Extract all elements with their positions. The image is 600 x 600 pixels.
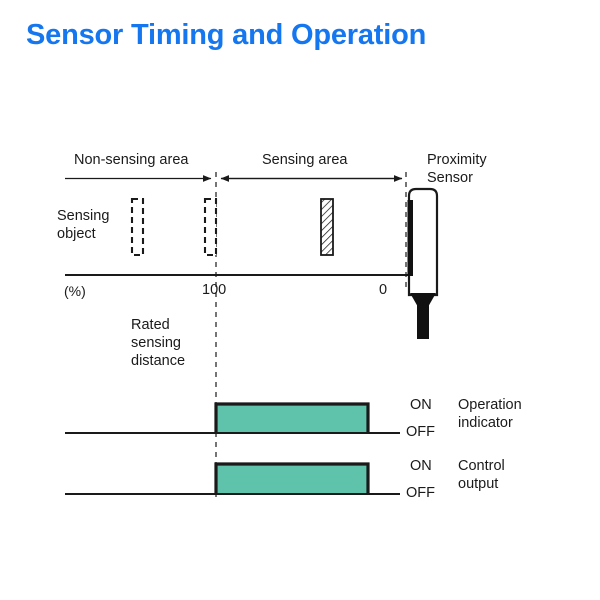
label-proximity-sensor: Proximity Sensor bbox=[427, 152, 487, 188]
label-on-control-output: ON bbox=[410, 458, 432, 476]
label-off-control-output: OFF bbox=[406, 485, 435, 503]
sensor-sensing-face bbox=[408, 200, 414, 276]
waveform-on-block bbox=[216, 464, 368, 494]
axis-tick-0: 0 bbox=[379, 282, 387, 300]
sensor-cable-neck bbox=[410, 293, 436, 307]
sensor-timing-diagram bbox=[0, 0, 600, 600]
label-sensing-object: Sensing object bbox=[57, 208, 109, 244]
label-percent-axis: (%) bbox=[64, 283, 86, 300]
label-on-operation-indicator: ON bbox=[410, 397, 432, 415]
waveform-control-output bbox=[65, 464, 400, 494]
waveform-on-block bbox=[216, 404, 368, 433]
label-non-sensing-area: Non-sensing area bbox=[74, 152, 188, 170]
label-operation-indicator: Operation indicator bbox=[458, 397, 522, 433]
proximity-sensor-body bbox=[408, 189, 438, 339]
diagram-page: Sensor Timing and Operation bbox=[0, 0, 600, 600]
sensing-object-boundary bbox=[205, 199, 216, 255]
sensing-object-far bbox=[132, 199, 143, 255]
label-sensing-area: Sensing area bbox=[262, 152, 347, 170]
label-control-output: Control output bbox=[458, 458, 505, 494]
axis-tick-100: 100 bbox=[202, 282, 226, 300]
label-rated-sensing-distance: Rated sensing distance bbox=[131, 317, 185, 371]
label-off-operation-indicator: OFF bbox=[406, 424, 435, 442]
sensing-object-detected bbox=[321, 199, 333, 255]
sensor-cable bbox=[417, 305, 429, 339]
waveform-operation-indicator bbox=[65, 404, 400, 433]
